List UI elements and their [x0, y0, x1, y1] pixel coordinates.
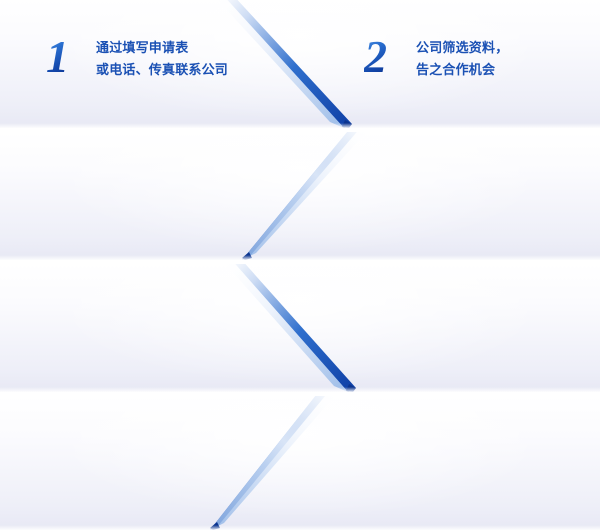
diagonal-blade-up-icon	[0, 396, 600, 530]
step-number-2: 2	[364, 34, 386, 80]
franchise-process-flow: 1 通过填写申请表 或电话、传真联系公司 2 公司筛选资料， 告之合作机会	[0, 0, 600, 530]
diagonal-blade-down-icon	[0, 264, 600, 392]
diagonal-blade-down-icon	[0, 0, 600, 128]
step-number-1: 1	[46, 34, 68, 80]
step-caption-2: 公司筛选资料， 告之合作机会	[416, 38, 508, 82]
diagonal-blade-up-icon	[0, 132, 600, 260]
process-row-3: 6 提交符合加盟要求的图纸 和保证金 5 公司设计整套图纸，并由公司 下单装修和…	[0, 264, 600, 392]
process-row-1: 1 通过填写申请表 或电话、传真联系公司 2 公司筛选资料， 告之合作机会	[0, 0, 600, 128]
step-caption-1: 通过填写申请表 或电话、传真联系公司	[96, 38, 228, 82]
process-row-2: 双方加深接触，实地调研，签 订《加盟意向合作书》 3 根据加盟手册，确定 专卖店…	[0, 132, 600, 260]
process-row-4: 正式开业前，公司区域经理 负责指导开业前的各类事务 7 8 通过装修验收的专卖店…	[0, 396, 600, 530]
